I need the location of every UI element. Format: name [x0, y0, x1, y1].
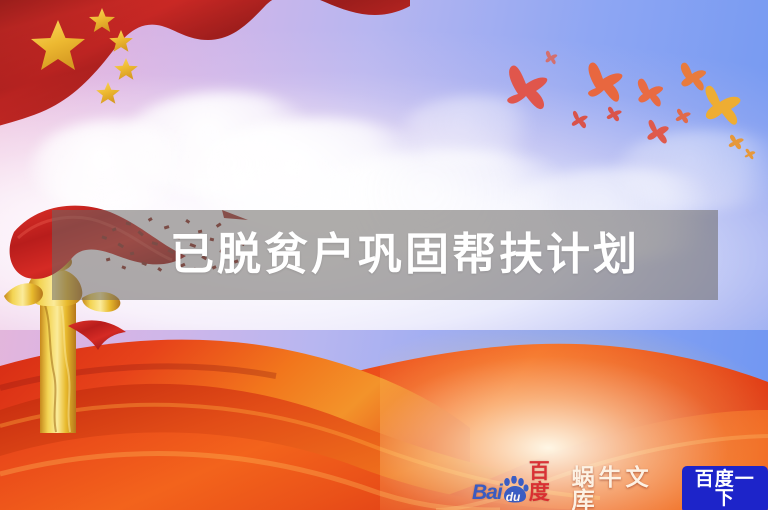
bird-icon — [572, 111, 588, 128]
baidu-logo-chinese: 百度 — [529, 461, 560, 503]
bird-icon — [745, 149, 756, 160]
flying-birds-flock — [488, 44, 768, 164]
title-band: 已脱贫户巩固帮扶计划 — [52, 210, 718, 300]
site-brand-label: 蜗牛文库 — [572, 466, 670, 510]
baidu-paw-label: du — [506, 491, 521, 503]
watermark-bar: Bai du 百度 蜗牛文库 百度一下 — [472, 472, 768, 506]
ribbon-tail — [68, 320, 126, 350]
bird-icon — [647, 120, 668, 144]
bird-icon — [588, 62, 622, 101]
page-title: 已脱贫户巩固帮扶计划 — [170, 233, 640, 277]
bird-icon — [706, 86, 741, 125]
chinese-national-flag — [0, 0, 410, 166]
bird-icon — [638, 79, 663, 107]
flag-shading — [0, 0, 410, 132]
bird-icon — [546, 51, 558, 64]
bird-icon — [681, 63, 706, 91]
baidu-logo[interactable]: Bai du 百度 — [472, 475, 560, 503]
baidu-paw-icon: du — [500, 476, 530, 503]
baidu-search-button[interactable]: 百度一下 — [682, 466, 768, 510]
poster-canvas: 已脱贫户巩固帮扶计划 Bai du 百度 蜗牛文库 百度一下 — [0, 0, 768, 510]
bird-icon — [507, 65, 547, 109]
bird-icon — [607, 107, 622, 121]
bird-icon — [676, 109, 691, 123]
column-shaft — [40, 294, 76, 433]
baidu-logo-latin: Bai — [472, 482, 502, 503]
bird-icon — [729, 135, 744, 149]
